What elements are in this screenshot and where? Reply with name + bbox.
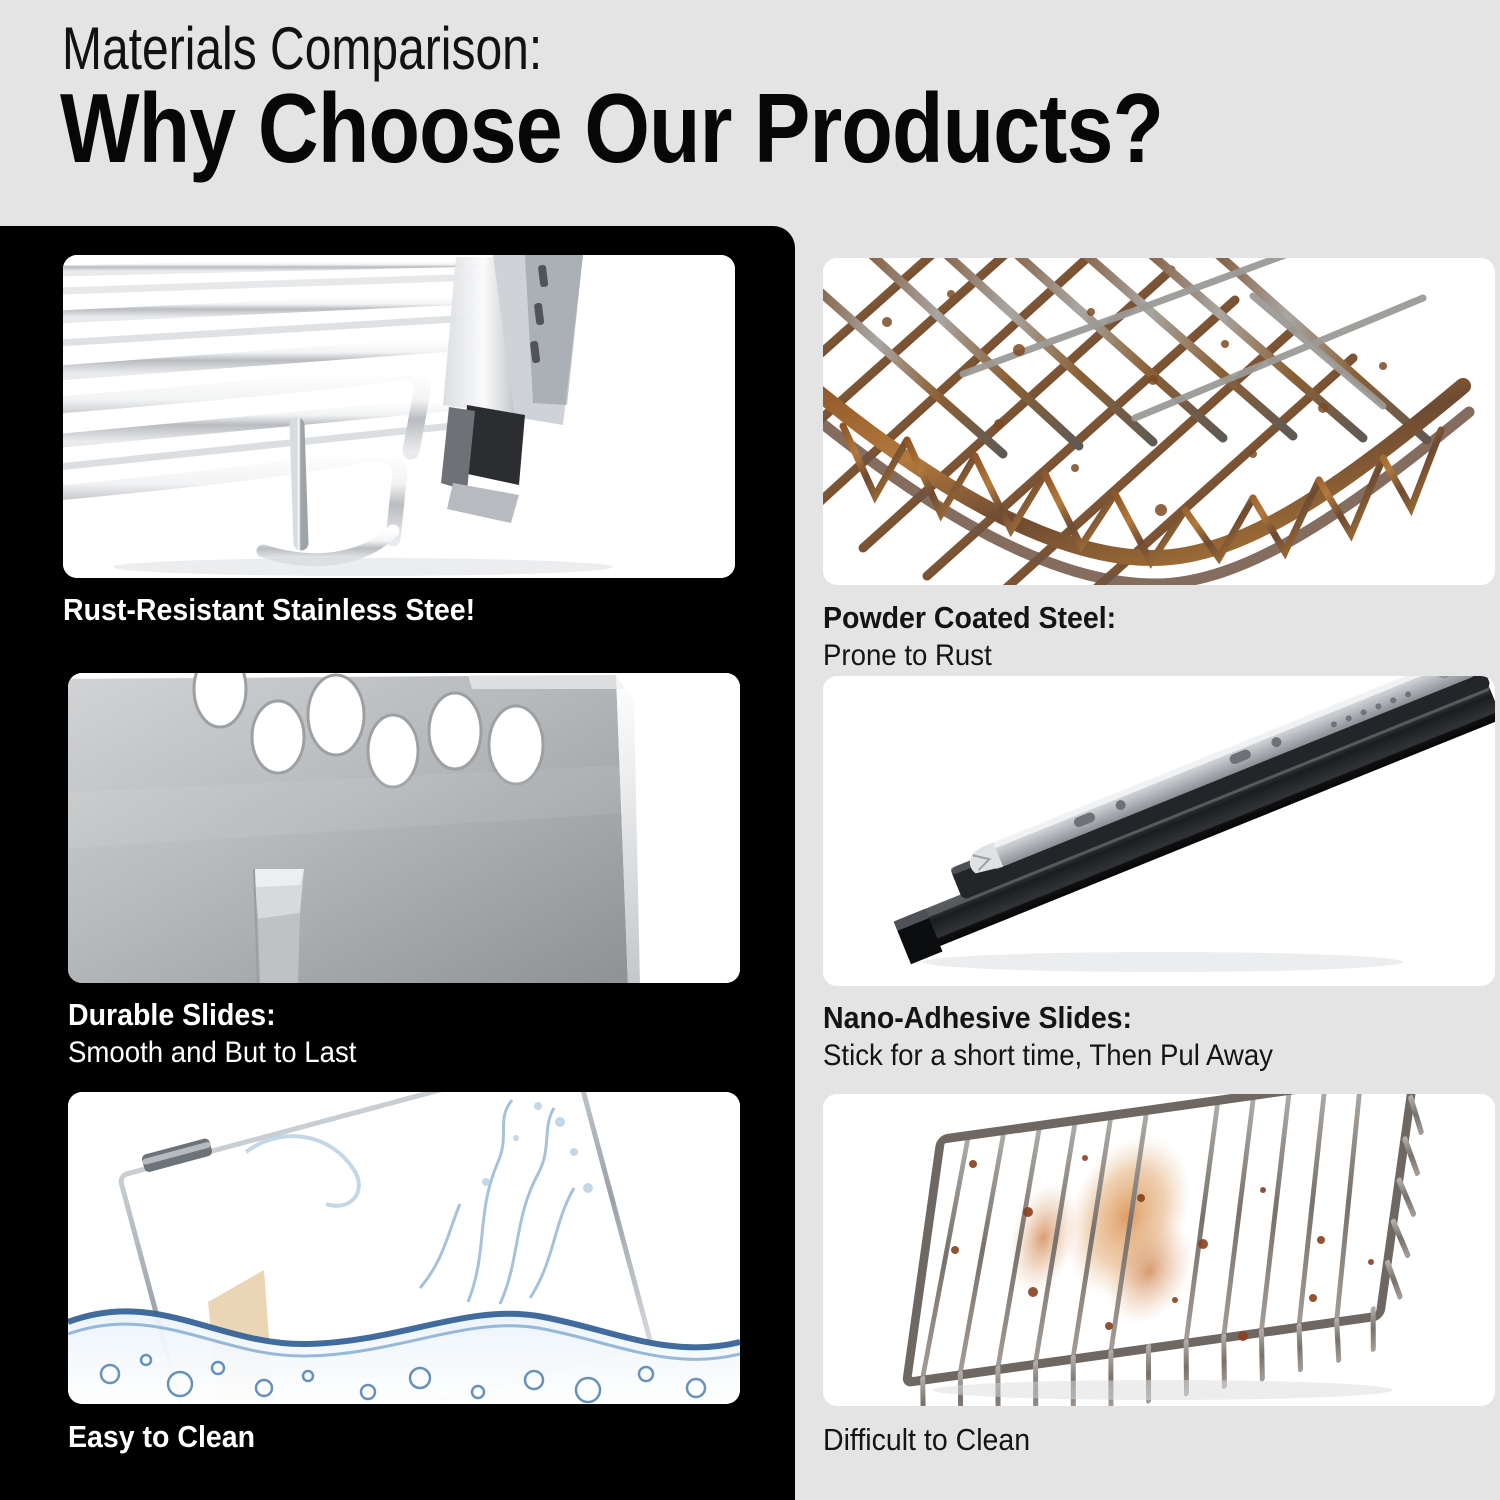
page-title: Why Choose Our Products? <box>60 73 1163 183</box>
caption-title: Durable Slides: <box>68 995 356 1034</box>
caption-block: Easy to Clean <box>68 1417 271 1456</box>
feature-cell-easy-to-clean: Easy to Clean <box>68 1092 740 1492</box>
feature-cell-powder-coated-steel: Powder Coated Steel: Prone to Rust <box>823 258 1495 668</box>
feature-cell-stainless-steel: Rust-Resistant Stainless Stee! <box>63 255 735 655</box>
feature-cell-difficult-to-clean: Difficult to Clean <box>823 1094 1495 1494</box>
caption-title: Difficult to Clean <box>823 1420 1030 1459</box>
caption-block: Nano-Adhesive Slides: Stick for a short … <box>823 998 1312 1075</box>
caption-title: Easy to Clean <box>68 1417 255 1456</box>
rack-water-splash-photo <box>68 1092 740 1404</box>
caption-title: Nano-Adhesive Slides: <box>823 998 1273 1037</box>
black-drawer-slide-photo <box>823 676 1495 986</box>
rusty-mesh-basket-photo <box>823 258 1495 585</box>
caption-subtitle: Prone to Rust <box>823 637 1116 675</box>
stainless-steel-rack-photo <box>63 255 735 578</box>
header-banner: Materials Comparison: Why Choose Our Pro… <box>0 0 1500 226</box>
dirty-stained-basket-photo <box>823 1094 1495 1406</box>
feature-cell-nano-adhesive-slides: Nano-Adhesive Slides: Stick for a short … <box>823 676 1495 1091</box>
metal-slide-plate-photo <box>68 673 740 983</box>
caption-title: Powder Coated Steel: <box>823 598 1116 637</box>
caption-subtitle: Stick for a short time, Then Pul Away <box>823 1037 1273 1075</box>
caption-block: Powder Coated Steel: Prone to Rust <box>823 598 1142 675</box>
caption-subtitle: Smooth and But to Last <box>68 1034 356 1072</box>
feature-cell-durable-slides: Durable Slides: Smooth and But to Last <box>68 673 740 1093</box>
caption-block: Difficult to Clean <box>823 1420 1048 1459</box>
caption-block: Rust-Resistant Stainless Stee! <box>63 590 511 629</box>
caption-block: Durable Slides: Smooth and But to Last <box>68 995 382 1072</box>
caption-title: Rust-Resistant Stainless Stee! <box>63 590 475 629</box>
